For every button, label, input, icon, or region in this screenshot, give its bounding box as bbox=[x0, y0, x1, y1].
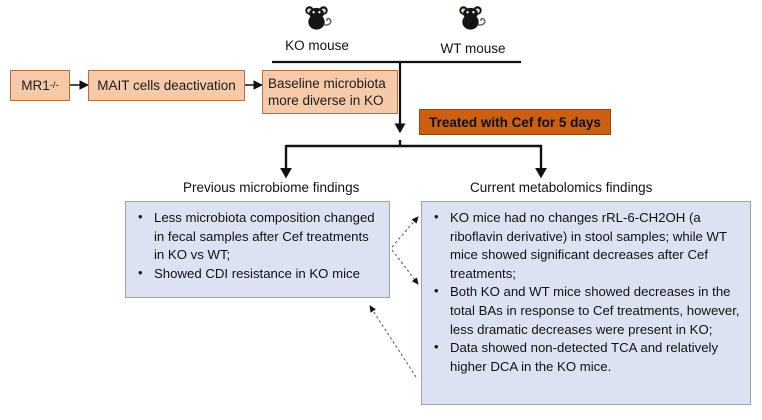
ko-mouse-label: KO mouse bbox=[264, 38, 370, 53]
dashed-arrow-to-previous-findings bbox=[370, 306, 416, 377]
cef-treatment-box[interactable]: Treated with Cef for 5 days bbox=[419, 109, 611, 135]
mait-deactivation-box[interactable]: MAIT cells deactivation bbox=[88, 70, 245, 101]
dashed-arrow-to-bullet-1 bbox=[392, 217, 418, 247]
list-item: KO mice had no changes rRL-6-CH2OH (a ri… bbox=[428, 209, 742, 283]
list-item: Showed CDI resistance in KO mice bbox=[132, 265, 381, 284]
current-findings-caption: Current metabolomics findings bbox=[470, 180, 652, 195]
previous-findings-caption: Previous microbiome findings bbox=[183, 180, 359, 195]
dashed-arrow-to-bullet-2 bbox=[392, 250, 418, 284]
list-item: Less microbiota composition changed in f… bbox=[132, 209, 381, 265]
wt-mouse-label: WT mouse bbox=[420, 41, 526, 56]
mr1-label: MR1 bbox=[21, 77, 50, 94]
list-item: Both KO and WT mice showed decreases in … bbox=[428, 283, 742, 339]
previous-findings-box[interactable]: Less microbiota composition changed in f… bbox=[125, 201, 390, 298]
baseline-microbiota-line-1: Baseline microbiota bbox=[268, 76, 386, 91]
previous-findings-list: Less microbiota composition changed in f… bbox=[132, 209, 381, 283]
current-findings-box[interactable]: KO mice had no changes rRL-6-CH2OH (a ri… bbox=[421, 201, 751, 405]
mait-deactivation-label: MAIT cells deactivation bbox=[97, 77, 236, 94]
mouse-icon bbox=[305, 6, 330, 29]
diagram-canvas: KO mouse WT mouse MR1-/- MAIT cells deac… bbox=[0, 0, 762, 420]
list-item: Data showed non-detected TCA and relativ… bbox=[428, 339, 742, 376]
mr1-superscript: -/- bbox=[50, 77, 59, 94]
mr1-knockout-box[interactable]: MR1-/- bbox=[10, 70, 70, 101]
baseline-microbiota-line-2: more diverse in KO bbox=[268, 93, 384, 108]
current-findings-list: KO mice had no changes rRL-6-CH2OH (a ri… bbox=[428, 209, 742, 376]
split-bracket bbox=[286, 140, 542, 176]
baseline-microbiota-box[interactable]: Baseline microbiota more diverse in KO bbox=[262, 70, 398, 114]
mouse-icon bbox=[459, 6, 484, 29]
cef-treatment-label: Treated with Cef for 5 days bbox=[429, 115, 601, 130]
